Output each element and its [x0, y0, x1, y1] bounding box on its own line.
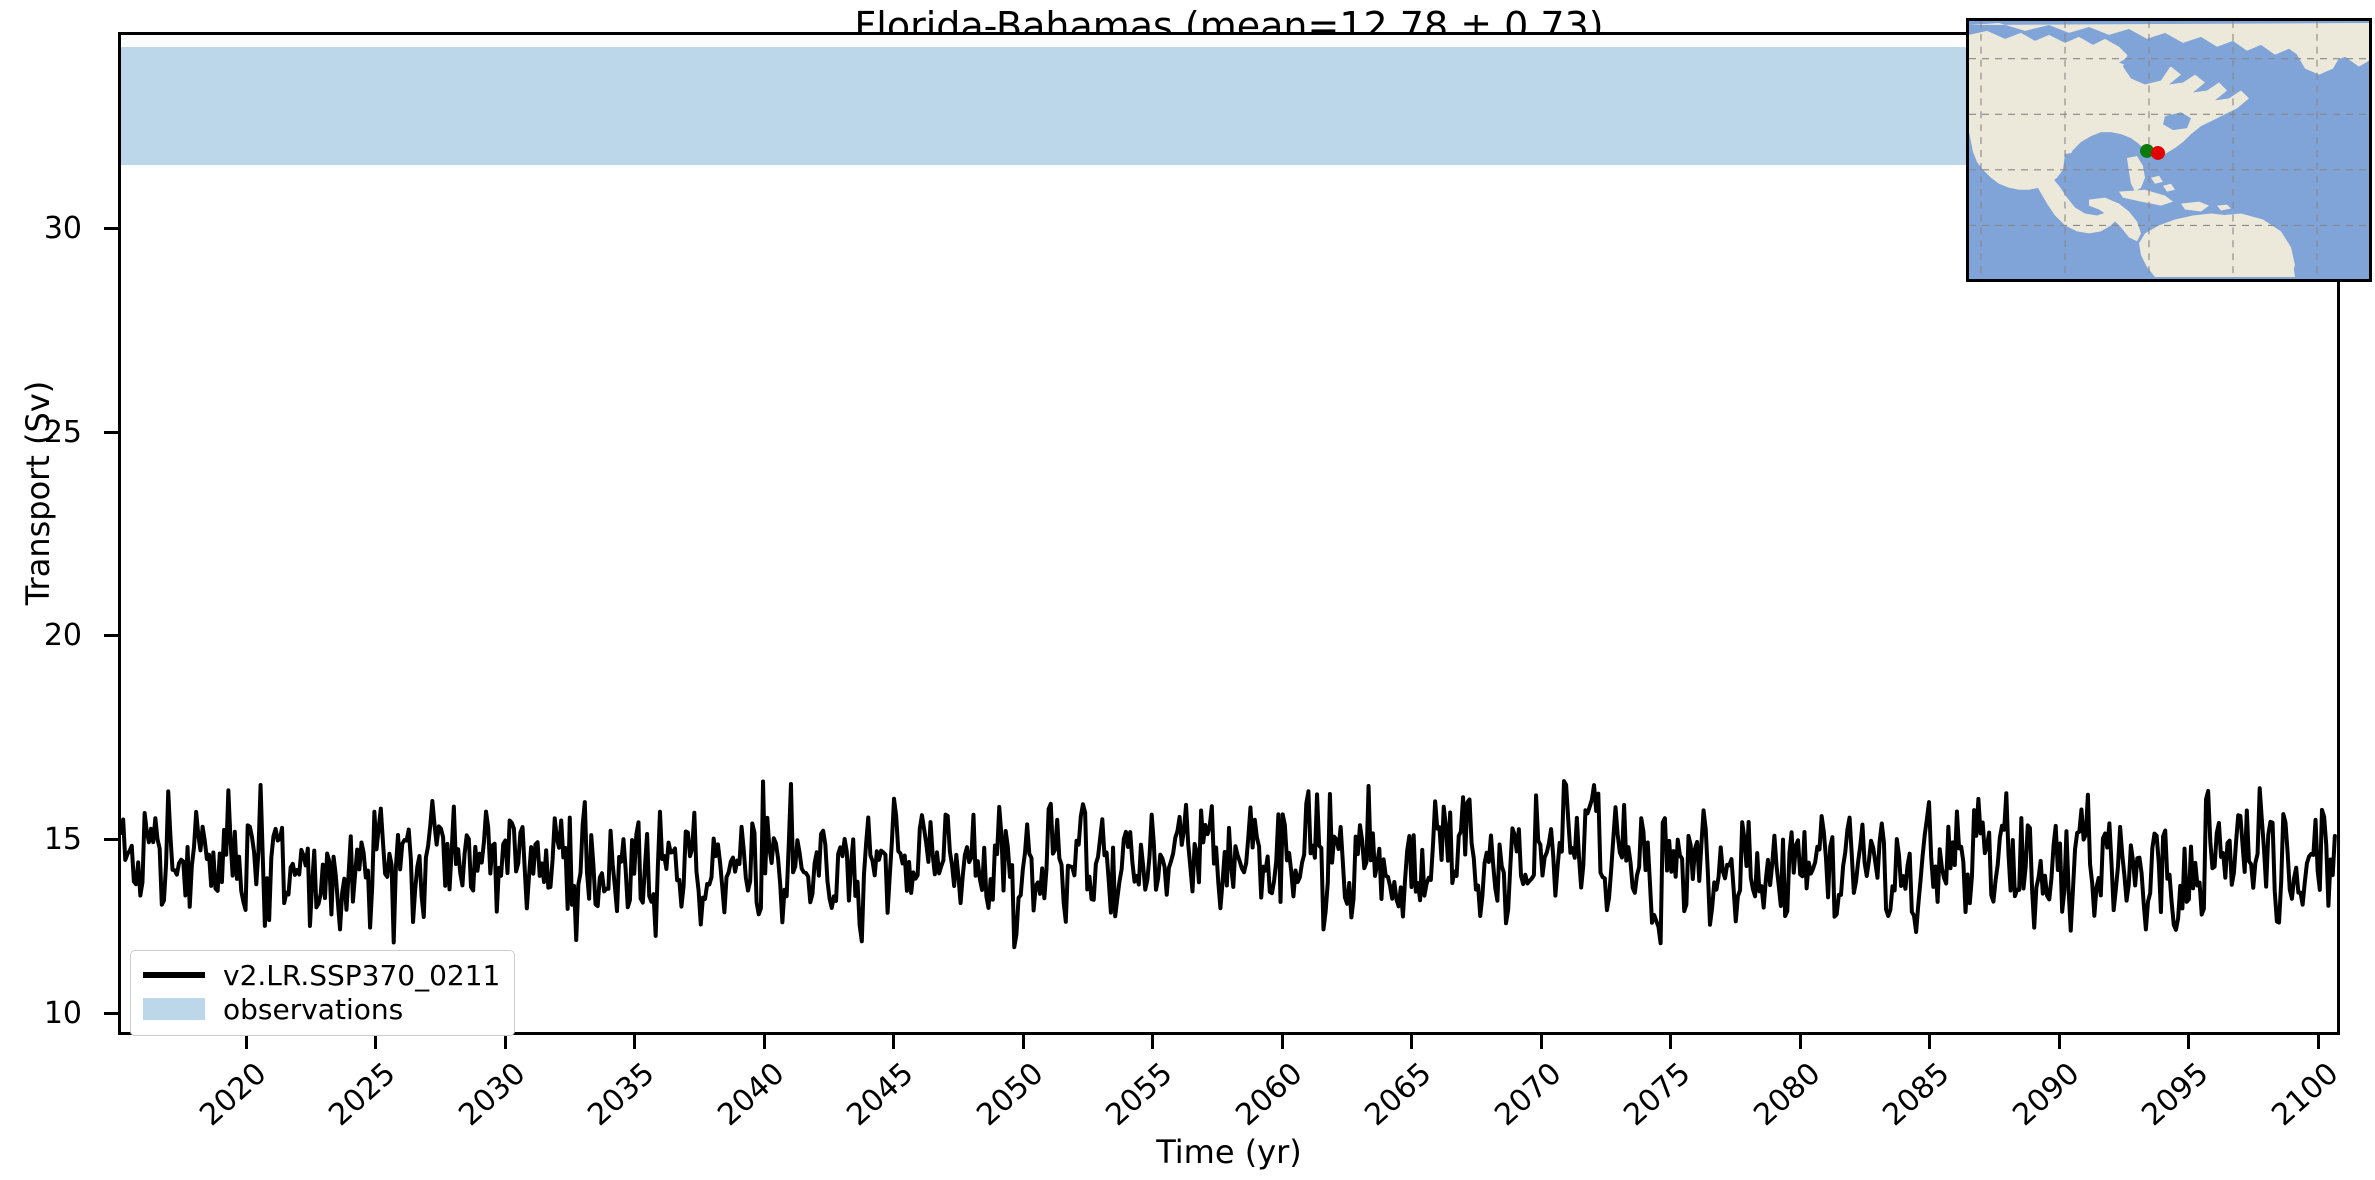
- y-tick-mark-30: [104, 227, 118, 230]
- y-tick-mark-20: [104, 634, 118, 637]
- x-tick-mark-2055: [1151, 1035, 1154, 1049]
- y-tick-mark-15: [104, 838, 118, 841]
- legend-item-observations: observations: [143, 992, 500, 1026]
- x-tick-mark-2070: [1540, 1035, 1543, 1049]
- legend-label-model: v2.LR.SSP370_0211: [223, 959, 500, 992]
- location-inset-map: [1966, 18, 2372, 282]
- x-tick-mark-2050: [1022, 1035, 1025, 1049]
- y-tick-mark-10: [104, 1012, 118, 1015]
- x-tick-mark-2095: [2187, 1035, 2190, 1049]
- x-tick-mark-2060: [1281, 1035, 1284, 1049]
- x-tick-mark-2090: [2058, 1035, 2061, 1049]
- x-tick-mark-2100: [2317, 1035, 2320, 1049]
- x-tick-mark-2020: [245, 1035, 248, 1049]
- figure-canvas: Florida-Bahamas (mean=12.78 ± 0.73) Tran…: [0, 0, 2375, 1180]
- x-tick-mark-2040: [763, 1035, 766, 1049]
- x-tick-mark-2030: [504, 1035, 507, 1049]
- y-tick-label-10: 10: [0, 996, 82, 1031]
- x-tick-mark-2075: [1669, 1035, 1672, 1049]
- transect-marker-red-icon: [2151, 146, 2165, 160]
- y-tick-mark-25: [104, 431, 118, 434]
- x-tick-mark-2035: [633, 1035, 636, 1049]
- y-tick-label-15: 15: [0, 822, 82, 857]
- legend-item-model: v2.LR.SSP370_0211: [143, 958, 500, 992]
- legend-line-swatch: [143, 972, 205, 978]
- y-tick-label-30: 30: [0, 211, 82, 246]
- x-tick-mark-2080: [1799, 1035, 1802, 1049]
- legend-patch-swatch: [143, 998, 205, 1020]
- chart-legend[interactable]: v2.LR.SSP370_0211 observations: [130, 950, 515, 1036]
- legend-label-observations: observations: [223, 993, 403, 1026]
- y-axis-label: Transport (Sv): [19, 223, 57, 763]
- y-tick-label-25: 25: [0, 415, 82, 450]
- x-axis-label: Time (yr): [118, 1133, 2340, 1171]
- x-tick-mark-2025: [374, 1035, 377, 1049]
- x-tick-mark-2065: [1410, 1035, 1413, 1049]
- x-tick-mark-2085: [1928, 1035, 1931, 1049]
- y-tick-label-20: 20: [0, 618, 82, 653]
- x-tick-mark-2045: [892, 1035, 895, 1049]
